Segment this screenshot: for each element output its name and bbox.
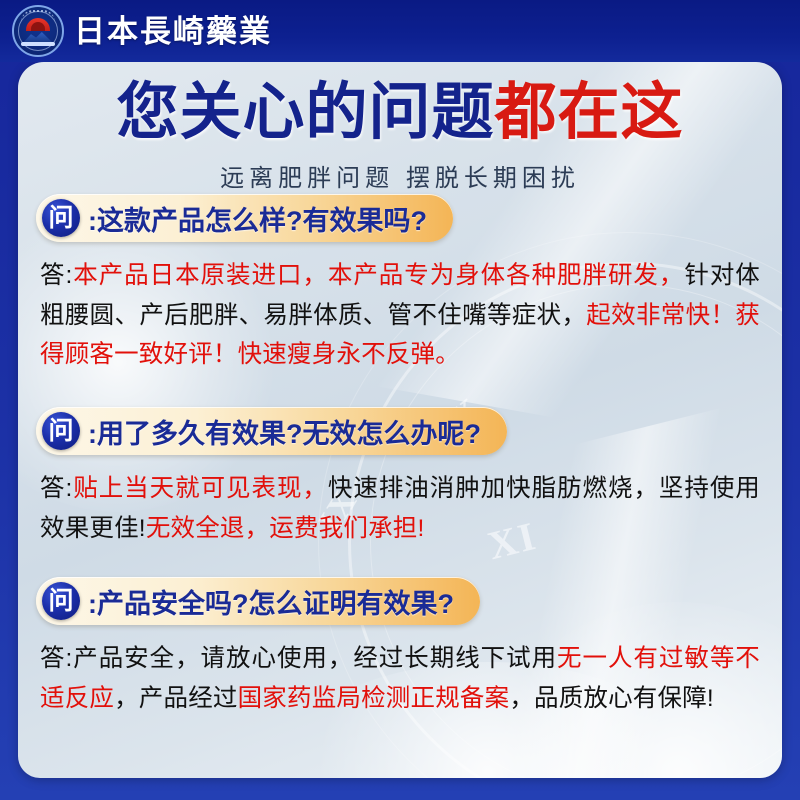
answer-parts-2: 贴上当天就可见表现，快速排油消肿加快脂肪燃烧，坚持使用效果更佳!无效全退，运费我… — [40, 475, 760, 542]
answer-run: 贴上当天就可见表现， — [72, 475, 327, 502]
question-text-1: :这款产品怎么样?有效果吗? — [88, 199, 427, 238]
answer-text-1: 答:本产品日本原装进口，本产品专为身体各种肥胖研发，针对体粗腰圆、产后肥胖、易胖… — [40, 256, 760, 375]
qa-block-2: 问 :用了多久有效果?无效怎么办呢? 答:贴上当天就可见表现，快速排油消肿加快脂… — [18, 407, 782, 548]
company-seal-icon — [12, 5, 64, 57]
page-subtitle: 远离肥胖问题 摆脱长期困扰 — [18, 158, 782, 193]
answer-run: 国家药监局检测正规备案 — [238, 685, 510, 712]
qa-block-1: 问 :这款产品怎么样?有效果吗? 答:本产品日本原装进口，本产品专为身体各种肥胖… — [18, 194, 782, 375]
question-bar-1[interactable]: 问 :这款产品怎么样?有效果吗? — [36, 194, 453, 242]
answer-label-1: 答: — [40, 262, 72, 289]
answer-text-3: 答:产品安全，请放心使用，经过长期线下试用无一人有过敏等不适反应，产品经过国家药… — [40, 639, 760, 718]
question-text-3: :产品安全吗?怎么证明有效果? — [88, 582, 454, 621]
seal-dome-inner — [31, 22, 45, 31]
question-text-2: :用了多久有效果?无效怎么办呢? — [88, 412, 481, 451]
question-bar-3[interactable]: 问 :产品安全吗?怎么证明有效果? — [36, 577, 480, 625]
answer-run: ，品质放心有保障! — [509, 685, 714, 712]
answer-parts-3: 产品安全，请放心使用，经过长期线下试用无一人有过敏等不适反应，产品经过国家药监局… — [40, 645, 760, 712]
page-title-blue: 您关心的问题 — [116, 78, 494, 147]
page-title-red: 都在这 — [495, 78, 684, 147]
qa-block-3: 问 :产品安全吗?怎么证明有效果? 答:产品安全，请放心使用，经过长期线下试用无… — [18, 577, 782, 718]
answer-parts-1: 本产品日本原装进口，本产品专为身体各种肥胖研发，针对体粗腰圆、产后肥胖、易胖体质… — [40, 262, 760, 368]
poster-root: 日本長崎藥業 X XI IX 您关心的问题都在这 远离肥胖问题 摆脱长期困扰 — [0, 0, 800, 800]
answer-label-2: 答: — [40, 475, 72, 502]
brand-header: 日本長崎藥業 — [0, 0, 800, 62]
seal-base — [21, 42, 55, 46]
question-badge-icon: 问 — [42, 199, 80, 237]
answer-run: 本产品日本原装进口，本产品专为身体各种肥胖研发， — [72, 262, 684, 289]
answer-text-2: 答:贴上当天就可见表现，快速排油消肿加快脂肪燃烧，坚持使用效果更佳!无效全退，运… — [40, 469, 760, 548]
answer-run: 产品安全，请放心使用，经过长期线下试用 — [72, 645, 557, 672]
brand-name: 日本長崎藥業 — [74, 16, 272, 47]
content-panel: X XI IX 您关心的问题都在这 远离肥胖问题 摆脱长期困扰 问 :这款产品怎… — [18, 62, 782, 778]
page-title: 您关心的问题都在这 — [18, 82, 782, 144]
answer-run: 无效全退，运费我们承担! — [146, 515, 425, 542]
panel-content: 您关心的问题都在这 远离肥胖问题 摆脱长期困扰 问 :这款产品怎么样?有效果吗?… — [18, 62, 782, 778]
question-bar-2[interactable]: 问 :用了多久有效果?无效怎么办呢? — [36, 407, 507, 455]
answer-run: ，产品经过 — [114, 685, 238, 712]
answer-label-3: 答: — [40, 645, 72, 672]
question-badge-icon: 问 — [42, 412, 80, 450]
question-badge-icon: 问 — [42, 582, 80, 620]
